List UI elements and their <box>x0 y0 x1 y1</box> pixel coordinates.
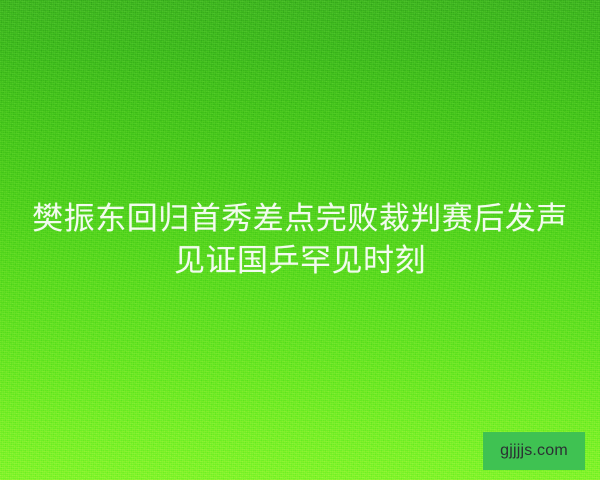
image-card: 樊振东回归首秀差点完败裁判赛后发声见证国乒罕见时刻 gjjjjs.com <box>0 0 600 480</box>
headline-text: 樊振东回归首秀差点完败裁判赛后发声见证国乒罕见时刻 <box>0 198 600 282</box>
watermark-label: gjjjjs.com <box>500 443 568 459</box>
watermark-badge: gjjjjs.com <box>483 432 585 470</box>
